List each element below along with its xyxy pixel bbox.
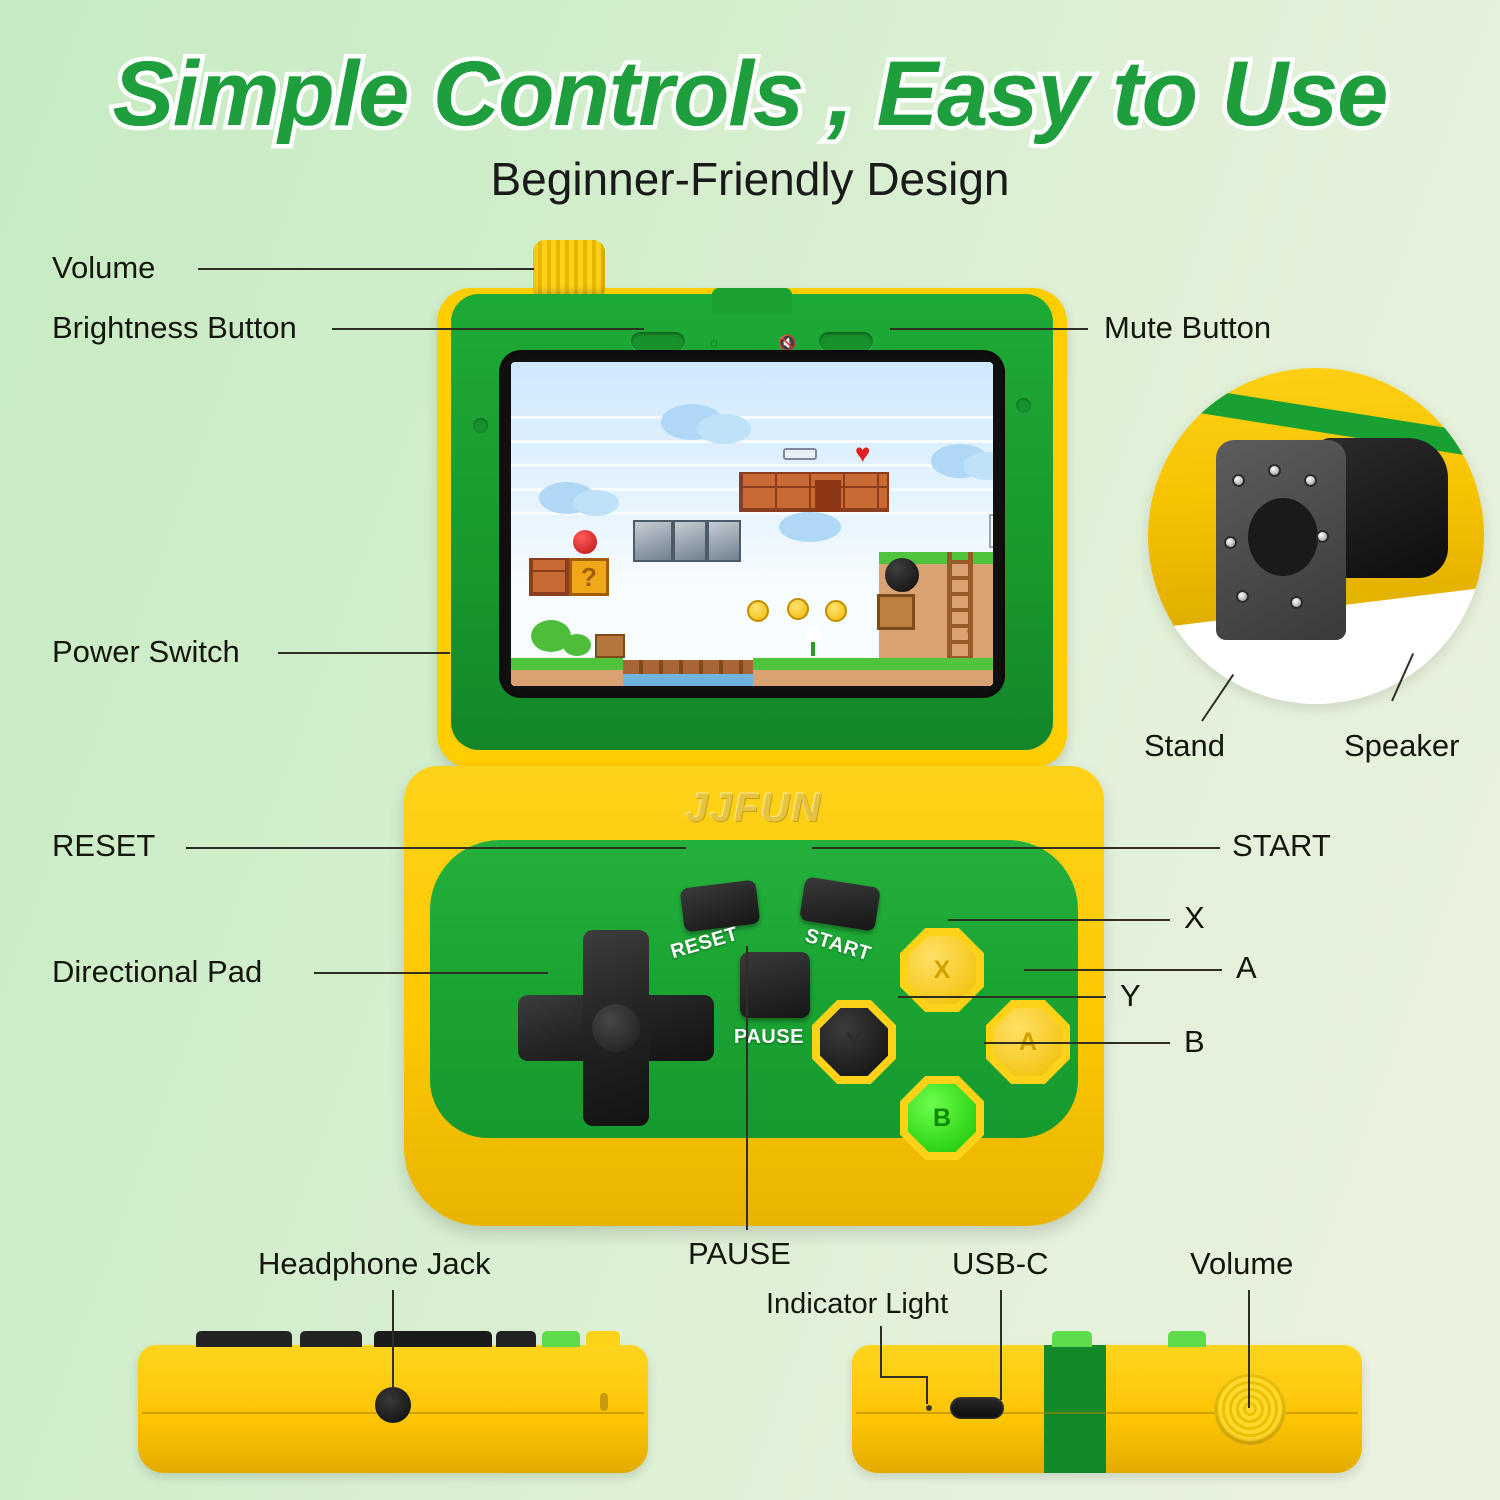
green-stripe	[1044, 1345, 1106, 1473]
question-block: ?	[569, 558, 609, 596]
spike-block	[633, 520, 673, 562]
top-edge-view	[852, 1345, 1362, 1473]
coin	[825, 600, 847, 622]
ladder	[947, 552, 973, 660]
volume-knob[interactable]	[533, 240, 605, 296]
green-button[interactable]	[542, 1331, 580, 1347]
brick-block	[529, 558, 569, 596]
button-y-glyph: Y	[820, 1008, 888, 1076]
callout-headphone-jack: Headphone Jack	[258, 1246, 491, 1282]
flower	[805, 628, 821, 642]
apple-item	[573, 530, 597, 554]
kickstand-plate	[1216, 440, 1346, 640]
spike-block	[707, 520, 741, 562]
reset-button[interactable]	[680, 880, 761, 933]
dpad-center[interactable]	[592, 1004, 640, 1052]
power-switch[interactable]	[473, 418, 488, 433]
machine-block	[989, 514, 993, 548]
brightness-button[interactable]	[631, 332, 685, 351]
shoulder-button-l[interactable]	[196, 1331, 292, 1347]
button-b[interactable]: B	[900, 1076, 984, 1160]
button-y[interactable]: Y	[812, 1000, 896, 1084]
mute-button[interactable]	[819, 332, 873, 351]
device-screen-half: ☼ 🔇	[437, 288, 1067, 768]
brightness-icon: ☼	[707, 334, 721, 351]
callout-stand: Stand	[1144, 728, 1225, 764]
green-nub-2[interactable]	[1168, 1331, 1206, 1347]
start-button[interactable]	[799, 876, 881, 931]
callout-volume-bottom: Volume	[1190, 1246, 1293, 1282]
start-cap-label: START	[802, 925, 873, 967]
brick-platform	[739, 472, 889, 512]
callout-speaker: Speaker	[1344, 728, 1459, 764]
page-subtitle: Beginner-Friendly Design	[0, 152, 1500, 206]
control-panel: RESET START PAUSE X Y A B	[430, 840, 1078, 1138]
key-icon	[783, 448, 817, 460]
fence	[595, 634, 625, 658]
callout-brightness-button: Brightness Button	[52, 310, 297, 346]
volume-wheel[interactable]	[1214, 1373, 1286, 1445]
coin	[747, 600, 769, 622]
indicator-light	[926, 1405, 932, 1411]
dirt-right	[753, 670, 993, 686]
pause-button[interactable]	[740, 952, 810, 1018]
bomb	[885, 558, 919, 592]
button-b-glyph: B	[908, 1084, 976, 1152]
game-screen: ♥ ?	[511, 362, 993, 686]
callout-mute-button: Mute Button	[1104, 310, 1271, 346]
callout-x: X	[1184, 900, 1205, 936]
stand-hole	[1248, 498, 1318, 576]
cloud	[779, 512, 841, 542]
callout-volume-top: Volume	[52, 250, 155, 286]
dirt-left	[511, 670, 623, 686]
usb-c-port[interactable]	[950, 1397, 1004, 1419]
green-nub[interactable]	[1052, 1331, 1092, 1347]
yellow-knob-edge[interactable]	[586, 1331, 620, 1347]
brand-logo: JJFUN	[404, 786, 1104, 831]
pause-cap-label: PAUSE	[734, 1026, 804, 1049]
button-x-glyph: X	[908, 936, 976, 1004]
page-title: Simple Controls , Easy to Use	[0, 42, 1500, 147]
bush	[563, 634, 591, 656]
callout-a: A	[1236, 950, 1257, 986]
shoulder-button-r[interactable]	[496, 1331, 536, 1347]
infographic-stage: Simple Controls , Easy to Use Simple Con…	[0, 0, 1500, 1500]
callout-power-switch: Power Switch	[52, 634, 240, 670]
button-x[interactable]: X	[900, 928, 984, 1012]
screen-frame: ♥ ?	[499, 350, 1005, 698]
callout-b: B	[1184, 1024, 1205, 1060]
sensor-dot	[1016, 398, 1031, 413]
screen-bezel-green: ☼ 🔇	[451, 294, 1053, 750]
stand-speaker-inset	[1148, 368, 1484, 704]
spike-block	[673, 520, 707, 562]
edge-slot	[600, 1393, 608, 1411]
callout-y: Y	[1120, 978, 1141, 1014]
coin	[787, 598, 809, 620]
cloud	[697, 414, 751, 444]
hinge-tab	[712, 288, 792, 314]
brick-gap	[815, 480, 841, 512]
callout-directional-pad: Directional Pad	[52, 954, 262, 990]
callout-usb-c: USB-C	[952, 1246, 1048, 1282]
shoulder-button-l2[interactable]	[300, 1331, 362, 1347]
callout-start: START	[1232, 828, 1331, 864]
crate	[877, 594, 915, 630]
bridge	[623, 660, 755, 674]
water	[623, 672, 753, 686]
callout-indicator-light: Indicator Light	[766, 1288, 948, 1321]
heart-icon: ♥	[855, 440, 870, 466]
callout-reset: RESET	[52, 828, 155, 864]
cloud	[573, 490, 619, 516]
callout-pause: PAUSE	[688, 1236, 791, 1272]
